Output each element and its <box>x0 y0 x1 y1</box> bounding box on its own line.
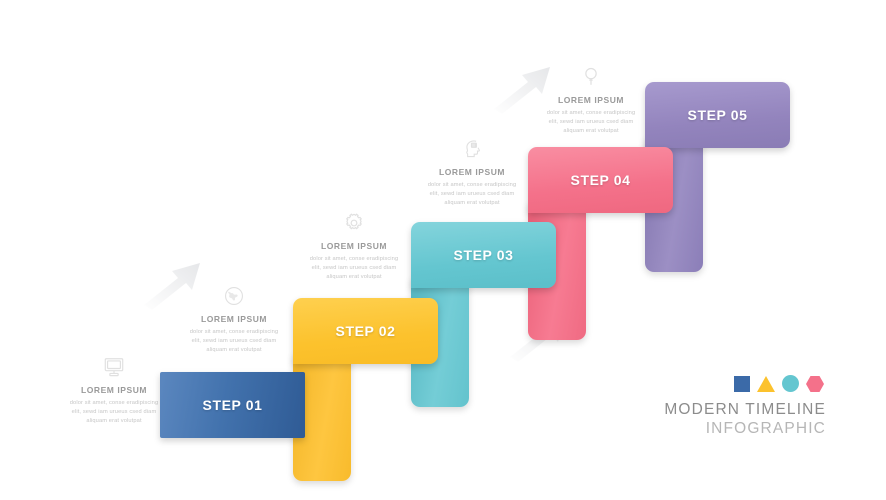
callout-01-title: LOREM IPSUM <box>66 385 162 395</box>
step-04-bar: STEP 04 <box>528 147 673 213</box>
step-01-bar: STEP 01 <box>160 372 305 438</box>
callout-02-title: LOREM IPSUM <box>186 314 282 324</box>
callout-04-body: dolor sit amet, conse eradipiscing elit,… <box>424 181 520 209</box>
step-03-bar: STEP 03 <box>411 222 556 288</box>
callout-step-02: LOREM IPSUM dolor sit amet, conse eradip… <box>186 281 282 356</box>
callout-01-body: dolor sit amet, conse eradipiscing elit,… <box>66 399 162 427</box>
step-01-label: STEP 01 <box>203 397 263 413</box>
callout-step-03: LOREM IPSUM dolor sit amet, conse eradip… <box>306 208 402 283</box>
step-04-label: STEP 04 <box>571 172 631 188</box>
hexagon-shape <box>806 376 824 392</box>
callout-05-body: dolor sit amet, conse eradipiscing elit,… <box>543 109 639 137</box>
head-brain-icon <box>424 134 520 160</box>
callout-03-body: dolor sit amet, conse eradipiscing elit,… <box>306 255 402 283</box>
callout-05-title: LOREM IPSUM <box>543 95 639 105</box>
step-05-bar: STEP 05 <box>645 82 790 148</box>
lightbulb-icon <box>543 62 639 88</box>
step-03-label: STEP 03 <box>454 247 514 263</box>
infographic-canvas: STEP 05 STEP 04 STEP 03 STEP 02 STEP 01 <box>0 0 886 500</box>
callout-04-title: LOREM IPSUM <box>424 167 520 177</box>
monitor-icon <box>66 352 162 378</box>
step-05-label: STEP 05 <box>688 107 748 123</box>
step-block-01[interactable]: STEP 01 <box>160 372 305 438</box>
callout-step-04: LOREM IPSUM dolor sit amet, conse eradip… <box>424 134 520 209</box>
step-02-bar: STEP 02 <box>293 298 438 364</box>
step-02-label: STEP 02 <box>336 323 396 339</box>
callout-02-body: dolor sit amet, conse eradipiscing elit,… <box>186 328 282 356</box>
callout-03-title: LOREM IPSUM <box>306 241 402 251</box>
gear-icon <box>306 208 402 234</box>
callout-step-01: LOREM IPSUM dolor sit amet, conse eradip… <box>66 352 162 427</box>
callout-step-05: LOREM IPSUM dolor sit amet, conse eradip… <box>543 62 639 137</box>
globe-icon <box>186 281 282 307</box>
step-block-02[interactable]: STEP 02 <box>293 298 438 443</box>
